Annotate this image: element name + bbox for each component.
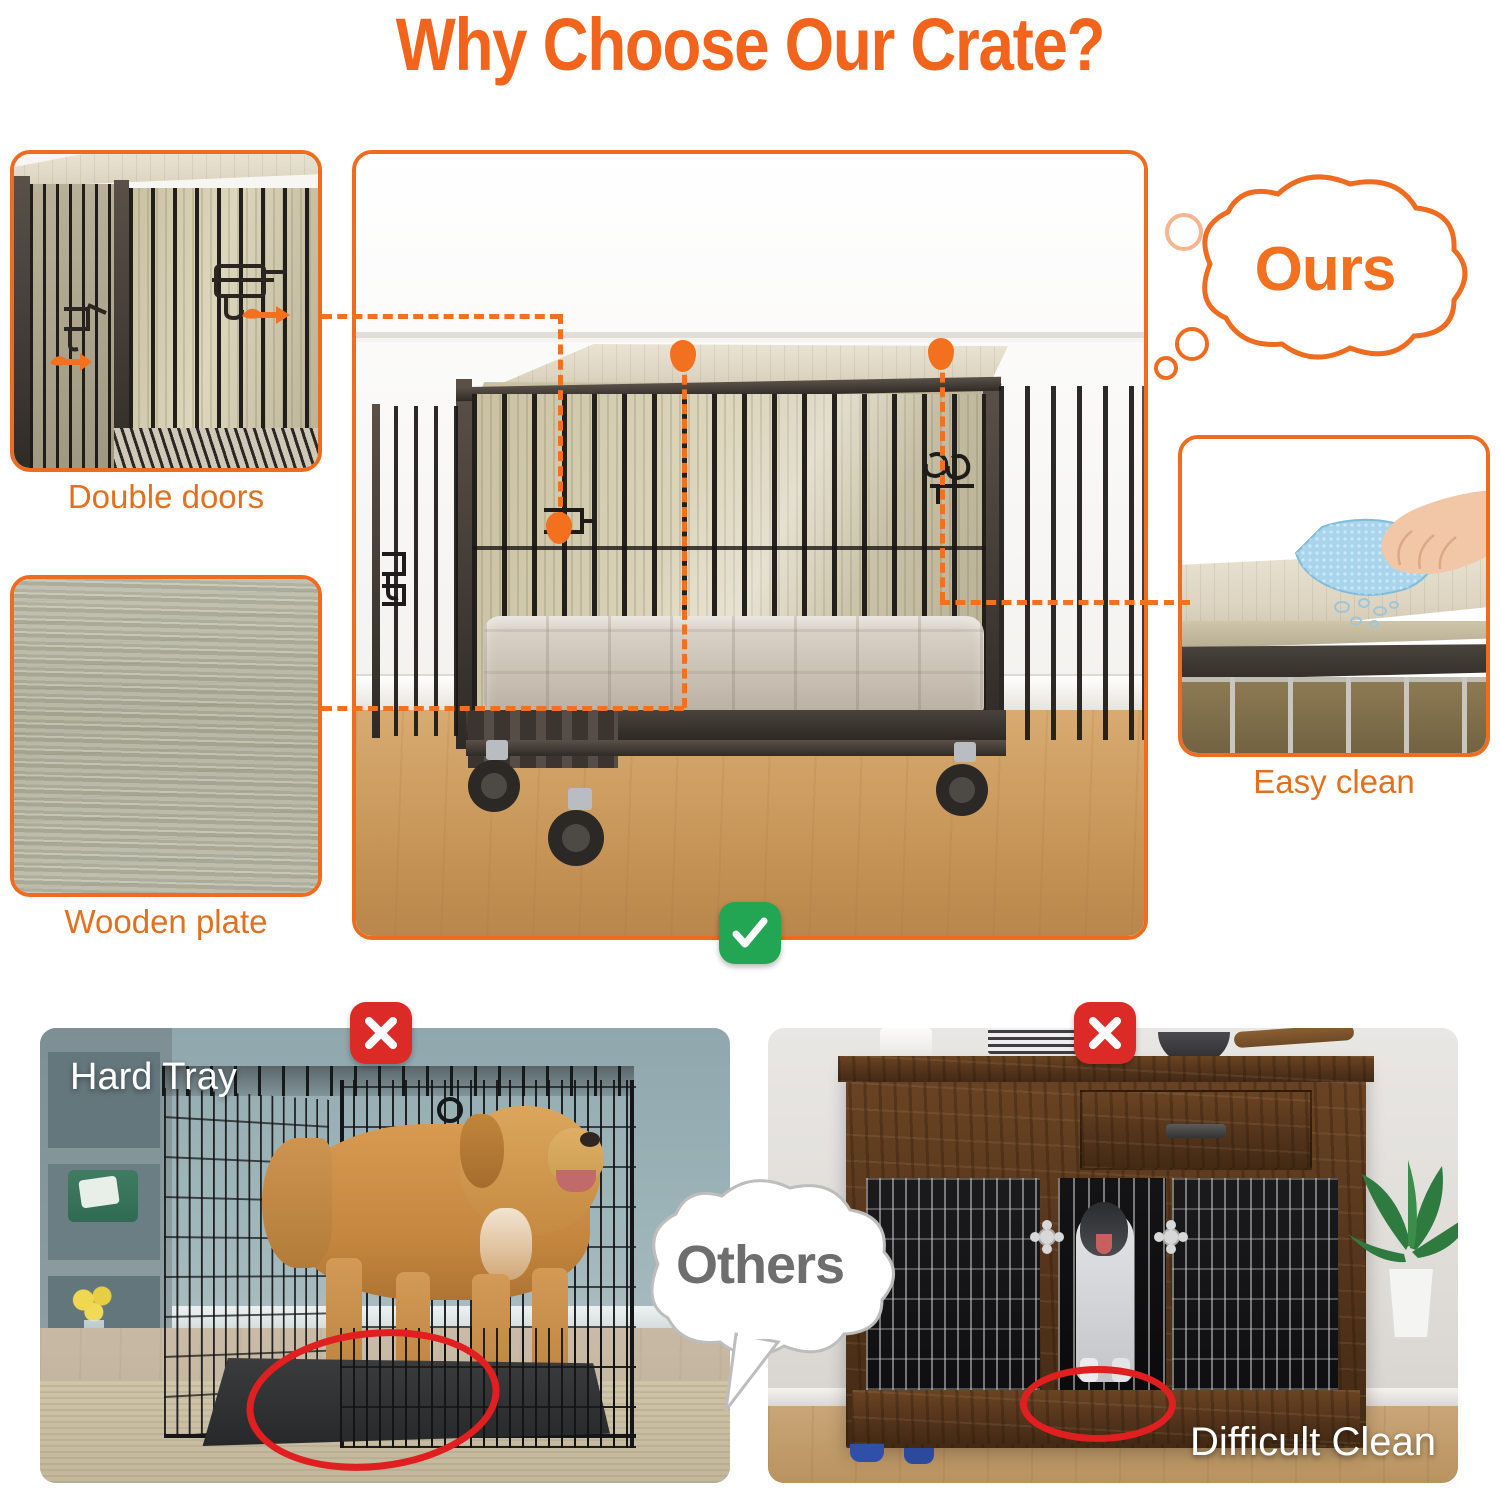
water-droplets-icon bbox=[1330, 597, 1410, 631]
easy-clean-image bbox=[1182, 439, 1486, 753]
feature-label-double-doors: Double doors bbox=[10, 478, 322, 516]
feature-panel-double-doors bbox=[10, 150, 322, 472]
caster-wheel-icon bbox=[542, 788, 620, 874]
double-doors-image bbox=[14, 154, 318, 468]
callout-line-double-doors-v bbox=[558, 314, 563, 522]
callout-line-wooden-plate-v bbox=[682, 360, 687, 708]
caster-wheel-icon bbox=[904, 1448, 934, 1464]
feature-panel-wooden-plate bbox=[10, 575, 322, 897]
door-knob-icon bbox=[1030, 1220, 1064, 1254]
feature-panel-easy-clean bbox=[1178, 435, 1490, 757]
hero-right-latch-icon bbox=[916, 440, 996, 520]
caster-wheel-icon bbox=[850, 1444, 884, 1462]
ours-bubble-label: Ours bbox=[1150, 234, 1500, 305]
hero-check-badge bbox=[719, 902, 781, 964]
side-latch-arrow-icon bbox=[48, 350, 94, 374]
callout-line-wooden-plate bbox=[322, 706, 684, 711]
callout-line-easy-clean-2 bbox=[940, 600, 1150, 605]
check-icon bbox=[729, 912, 771, 954]
wooden-plate-image bbox=[14, 579, 318, 893]
page-title: Why Choose Our Crate? bbox=[105, 2, 1395, 87]
latch-arrow-icon bbox=[240, 302, 292, 328]
cross-icon bbox=[1084, 1012, 1126, 1054]
wire-crate-cross-badge bbox=[350, 1002, 412, 1064]
callout-line-easy-clean-v bbox=[940, 358, 945, 602]
feature-label-easy-clean: Easy clean bbox=[1178, 763, 1490, 801]
wood-crate-cross-badge bbox=[1074, 1002, 1136, 1064]
others-bubble: Others bbox=[610, 1172, 910, 1412]
hero-panel bbox=[352, 150, 1148, 940]
wire-crate-caption: Hard Tray bbox=[70, 1056, 237, 1099]
ours-bubble: Ours bbox=[1150, 168, 1500, 408]
crate-latch-icon bbox=[432, 1094, 468, 1128]
hand-icon bbox=[1364, 473, 1490, 585]
infographic-canvas: Why Choose Our Crate? bbox=[0, 0, 1500, 1491]
caster-wheel-icon bbox=[930, 742, 1002, 824]
callout-line-easy-clean bbox=[1148, 600, 1190, 605]
door-knob-icon bbox=[1154, 1220, 1188, 1254]
bottom-gap-highlight-ellipse bbox=[1020, 1366, 1176, 1442]
hero-image bbox=[356, 154, 1144, 936]
cross-icon bbox=[360, 1012, 402, 1054]
drawer-handle bbox=[1166, 1124, 1226, 1138]
others-bubble-label: Others bbox=[610, 1234, 910, 1296]
hero-side-latch-icon bbox=[374, 546, 430, 614]
wood-crate-caption: Difficult Clean bbox=[1190, 1420, 1436, 1465]
potted-plant-icon bbox=[1346, 1142, 1458, 1342]
feature-label-wooden-plate: Wooden plate bbox=[10, 903, 322, 941]
callout-line-double-doors bbox=[322, 314, 560, 319]
side-door-latch-icon bbox=[54, 299, 114, 355]
caster-wheel-icon bbox=[464, 740, 534, 820]
